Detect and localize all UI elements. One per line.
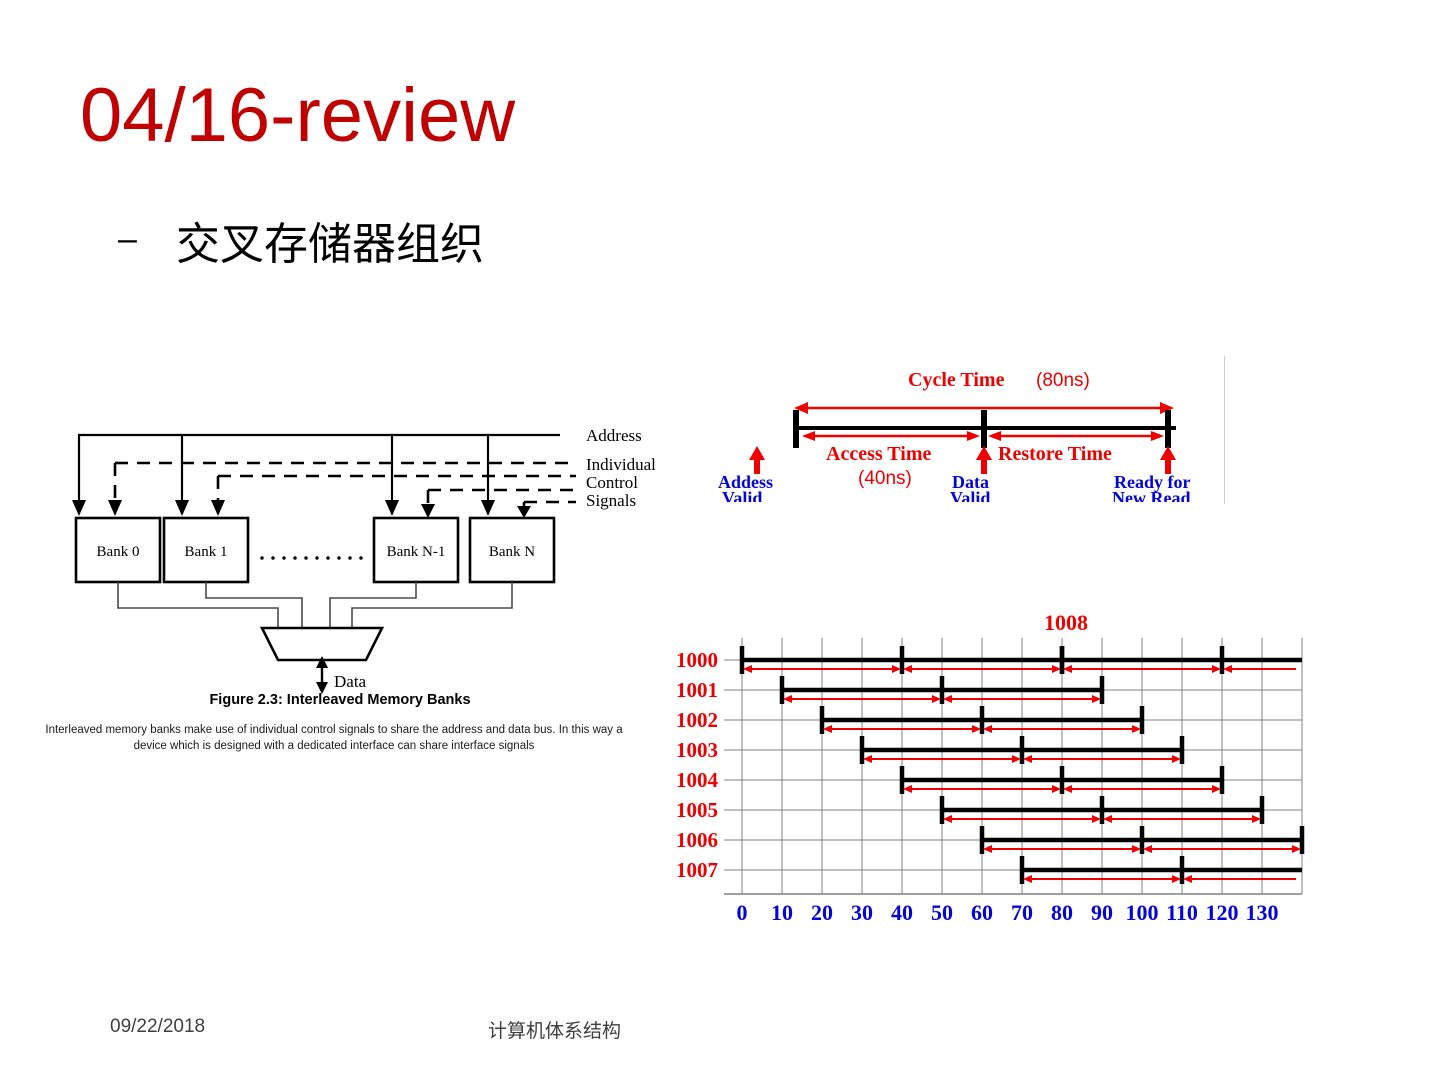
timeline-row-bar	[902, 766, 1222, 794]
timeline-row-label: 1005	[676, 798, 718, 822]
bank-label: Bank N-1	[387, 544, 446, 560]
x-axis-tick-label: 20	[811, 900, 833, 925]
figure-caption: Figure 2.3: Interleaved Memory Banks	[30, 692, 650, 708]
cycle-time-label: Cycle Time	[908, 369, 1005, 391]
timeline-row-bar	[1022, 856, 1302, 884]
timeline-row-bar	[862, 736, 1182, 764]
memory-cycle-timing-diagram: Cycle Time (80ns) Access Time (40ns) Res…	[716, 356, 1225, 504]
x-axis-tick-label: 0	[737, 900, 748, 925]
timeline-annotation-label: 1008	[1044, 610, 1088, 635]
x-axis-tick-label: 120	[1206, 900, 1239, 925]
bank-ellipsis	[260, 556, 362, 559]
marker-label-data-valid-line2: Valid	[950, 488, 990, 502]
bus-label-control: Control	[586, 473, 638, 492]
access-time-value: (40ns)	[858, 468, 912, 489]
timeline-row-label: 1000	[676, 648, 718, 672]
x-axis-tick-label: 60	[971, 900, 993, 925]
bullet-item-label: 交叉存储器组织	[176, 222, 484, 268]
x-axis-tick-label: 130	[1246, 900, 1279, 925]
timeline-row-label: 1007	[676, 858, 718, 882]
data-multiplexer	[262, 628, 382, 660]
x-axis-tick-label: 50	[931, 900, 953, 925]
page-title: 04/16-review	[80, 78, 515, 154]
timeline-row-label: 1002	[676, 708, 718, 732]
x-axis-tick-label: 80	[1051, 900, 1073, 925]
interleaved-bank-timeline-chart: 1000100110021003100410051006100710080102…	[662, 604, 1358, 934]
x-axis-tick-label: 90	[1091, 900, 1113, 925]
bank-label: Bank 1	[185, 544, 228, 560]
restore-time-label: Restore Time	[998, 443, 1112, 465]
footer-date: 09/22/2018	[110, 1016, 205, 1038]
data-bus-label: Data	[334, 672, 367, 691]
timeline-row-bar	[782, 676, 1102, 704]
x-axis-tick-label: 100	[1126, 900, 1159, 925]
x-axis-tick-label: 30	[851, 900, 873, 925]
timeline-row-bar	[942, 796, 1262, 824]
x-axis-tick-label: 110	[1166, 900, 1198, 925]
timeline-row-label: 1001	[676, 678, 718, 702]
bullet-dash-icon: –	[118, 222, 176, 256]
x-axis-tick-label: 70	[1011, 900, 1033, 925]
timeline-row-bar	[742, 646, 1062, 674]
bus-label-individual: Individual	[586, 455, 656, 474]
bank-label: Bank N	[489, 544, 535, 560]
x-axis-tick-label: 10	[771, 900, 793, 925]
footer-center-text: 计算机体系结构	[488, 1016, 621, 1043]
bank-label: Bank 0	[97, 544, 140, 560]
timeline-row-label: 1004	[676, 768, 719, 792]
timeline-row-label: 1003	[676, 738, 718, 762]
bullet-item: – 交叉存储器组织	[118, 222, 484, 268]
access-time-label: Access Time	[826, 443, 931, 465]
marker-label-ready-line2: New Read	[1112, 488, 1191, 502]
timeline-row-bar	[982, 826, 1302, 854]
figure-description: Interleaved memory banks make use of ind…	[38, 722, 630, 755]
slide-canvas: 04/16-review – 交叉存储器组织	[0, 0, 1440, 1080]
timeline-row-bar	[822, 706, 1142, 734]
bus-label-signals: Signals	[586, 491, 636, 510]
x-axis-tick-label: 40	[891, 900, 913, 925]
cycle-time-value: (80ns)	[1036, 370, 1090, 391]
interleaved-memory-banks-figure: Address Individual Control Signals Bank …	[30, 410, 660, 770]
timeline-row-label: 1006	[676, 828, 718, 852]
marker-label-address-valid-line2: Valid	[722, 488, 762, 502]
bus-label-address: Address	[586, 426, 642, 445]
